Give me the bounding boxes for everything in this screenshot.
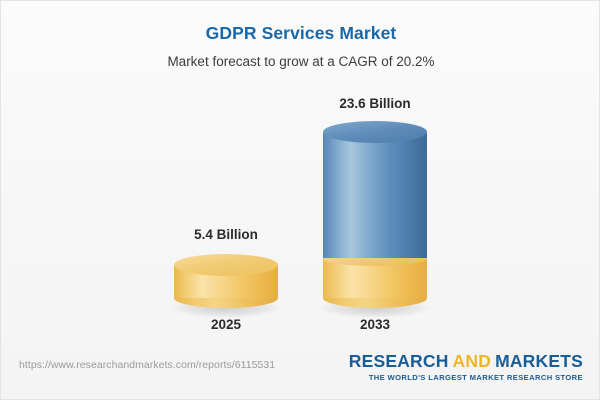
bar-group-2025[interactable]: 5.4 Billion 2025 — [174, 1, 278, 349]
cylinder-body-2033 — [323, 132, 427, 258]
chart-card: GDPR Services Market Market forecast to … — [0, 0, 600, 400]
bar-group-2033[interactable]: 23.6 Billion 2033 — [323, 1, 427, 349]
plot-area: 5.4 Billion 2025 23.6 Billion — [1, 1, 600, 349]
cylinder-top-cap-2025 — [174, 254, 278, 276]
source-url[interactable]: https://www.researchandmarkets.com/repor… — [19, 359, 275, 371]
bar-value-2033: 23.6 Billion — [339, 96, 410, 111]
cylinder-2033[interactable] — [323, 121, 427, 308]
logo-word-research: RESEARCH — [349, 351, 449, 371]
logo-tagline: THE WORLD'S LARGEST MARKET RESEARCH STOR… — [349, 373, 583, 382]
brand-logo[interactable]: RESEARCHANDMARKETS THE WORLD'S LARGEST M… — [349, 352, 583, 382]
bar-label-2033: 2033 — [360, 317, 390, 332]
cylinder-top-cap-2033 — [323, 121, 427, 143]
bar-label-2025: 2025 — [211, 317, 241, 332]
logo-wordmark: RESEARCHANDMARKETS — [349, 352, 583, 371]
logo-word-markets: MARKETS — [495, 351, 583, 371]
logo-word-and: AND — [449, 351, 496, 371]
footer: https://www.researchandmarkets.com/repor… — [1, 347, 600, 399]
cylinder-2025[interactable] — [174, 254, 278, 308]
bar-value-2025: 5.4 Billion — [194, 227, 258, 242]
